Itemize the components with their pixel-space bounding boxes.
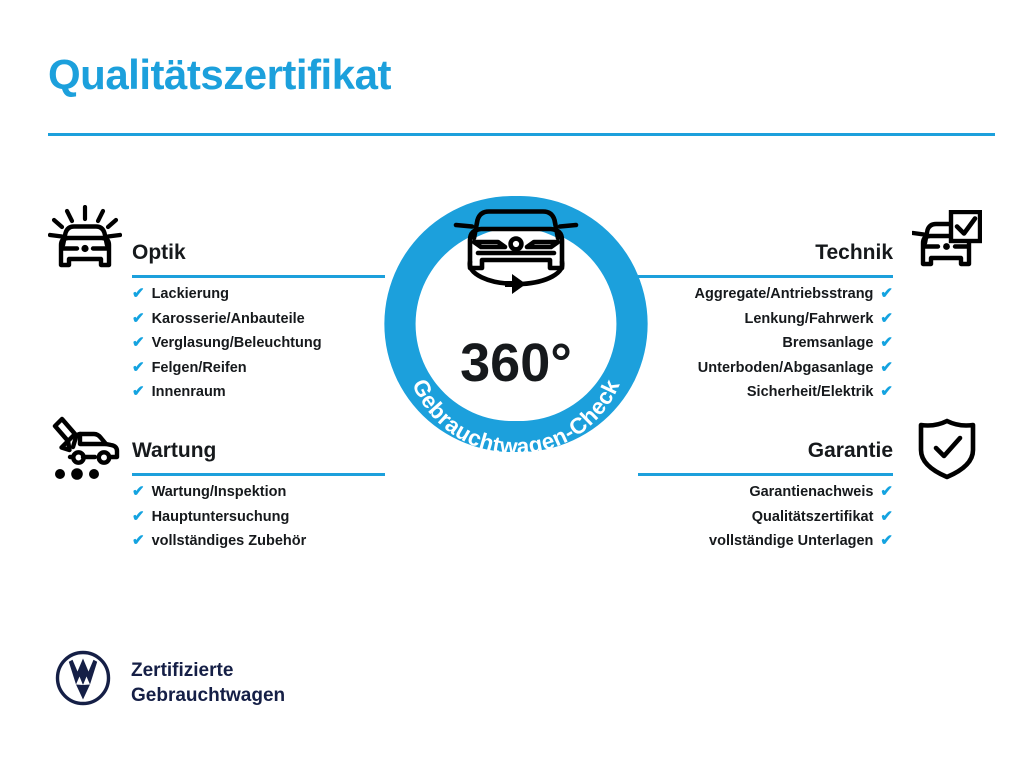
footer-brand-text: Zertifizierte Gebrauchtwagen <box>131 658 285 708</box>
section-wartung: Wartung ✔Wartung/Inspektion ✔Hauptunters… <box>132 436 385 554</box>
car-front-checkbox-icon <box>912 210 982 274</box>
section-technik-header: Technik <box>638 238 893 282</box>
section-optik-list: ✔Lackierung ✔Karosserie/Anbauteile ✔Verg… <box>132 282 385 405</box>
check-icon: ✔ <box>880 307 893 331</box>
list-item-label: Bremsanlage <box>782 332 873 356</box>
section-optik-divider <box>132 275 385 278</box>
section-wartung-title: Wartung <box>132 436 385 466</box>
check-icon: ✔ <box>880 380 893 404</box>
check-icon: ✔ <box>880 480 893 504</box>
list-item-label: Wartung/Inspektion <box>152 481 287 505</box>
footer-brand-line1: Zertifizierte <box>131 658 285 683</box>
list-item-label: Unterboden/Abgasanlage <box>698 357 874 381</box>
section-technik-title: Technik <box>638 238 893 268</box>
list-item-label: Felgen/Reifen <box>152 357 247 381</box>
volkswagen-logo <box>55 650 111 706</box>
check-icon: ✔ <box>132 356 145 380</box>
section-garantie: Garantie Garantienachweis✔ Qualitätszert… <box>638 436 893 554</box>
list-item: Bremsanlage✔ <box>638 331 893 356</box>
pen-and-car-service-icon <box>48 415 122 481</box>
section-garantie-title: Garantie <box>638 436 893 466</box>
check-icon: ✔ <box>880 505 893 529</box>
list-item: Aggregate/Antriebsstrang✔ <box>638 282 893 307</box>
check-icon: ✔ <box>132 331 145 355</box>
list-item: ✔Hauptuntersuchung <box>132 505 385 530</box>
list-item-label: Garantienachweis <box>749 481 873 505</box>
list-item-label: Sicherheit/Elektrik <box>747 381 874 405</box>
certificate-page: Qualitätszertifikat Optik <box>0 0 1024 768</box>
check-icon: ✔ <box>880 529 893 553</box>
list-item: ✔Verglasung/Beleuchtung <box>132 331 385 356</box>
section-optik: Optik ✔Lackierung ✔Karosserie/Anbauteile… <box>132 238 385 405</box>
list-item: ✔Wartung/Inspektion <box>132 480 385 505</box>
list-item: Garantienachweis✔ <box>638 480 893 505</box>
section-optik-title: Optik <box>132 238 385 268</box>
shield-check-icon <box>916 418 978 480</box>
list-item: ✔Felgen/Reifen <box>132 356 385 381</box>
check-icon: ✔ <box>132 380 145 404</box>
section-technik: Technik Aggregate/Antriebsstrang✔ Lenkun… <box>638 238 893 405</box>
list-item: Unterboden/Abgasanlage✔ <box>638 356 893 381</box>
check-icon: ✔ <box>132 505 145 529</box>
check-icon: ✔ <box>132 307 145 331</box>
footer-brand-line2: Gebrauchtwagen <box>131 683 285 708</box>
check-icon: ✔ <box>132 529 145 553</box>
section-technik-list: Aggregate/Antriebsstrang✔ Lenkung/Fahrwe… <box>638 282 893 405</box>
list-item-label: vollständige Unterlagen <box>709 530 873 554</box>
list-item-label: Karosserie/Anbauteile <box>152 308 305 332</box>
list-item-label: Innenraum <box>152 381 226 405</box>
list-item: ✔Karosserie/Anbauteile <box>132 307 385 332</box>
list-item-label: Hauptuntersuchung <box>152 506 290 530</box>
list-item: Sicherheit/Elektrik✔ <box>638 380 893 405</box>
check-icon: ✔ <box>132 282 145 306</box>
check-icon: ✔ <box>880 356 893 380</box>
check-icon: ✔ <box>880 282 893 306</box>
section-wartung-header: Wartung <box>132 436 385 480</box>
section-garantie-list: Garantienachweis✔ Qualitätszertifikat✔ v… <box>638 480 893 554</box>
section-optik-header: Optik <box>132 238 385 282</box>
list-item-label: Lenkung/Fahrwerk <box>745 308 874 332</box>
list-item: ✔vollständiges Zubehör <box>132 529 385 554</box>
list-item: ✔Lackierung <box>132 282 385 307</box>
check-icon: ✔ <box>132 480 145 504</box>
list-item: vollständige Unterlagen✔ <box>638 529 893 554</box>
badge-360-gebrauchtwagen-check: 360° Gebrauchtwagen-Check <box>380 196 652 486</box>
list-item-label: vollständiges Zubehör <box>152 530 307 554</box>
section-wartung-divider <box>132 473 385 476</box>
list-item: ✔Innenraum <box>132 380 385 405</box>
list-item: Qualitätszertifikat✔ <box>638 505 893 530</box>
badge-center-text: 360° <box>460 333 572 393</box>
list-item-label: Lackierung <box>152 283 229 307</box>
list-item: Lenkung/Fahrwerk✔ <box>638 307 893 332</box>
title-divider <box>48 133 995 136</box>
list-item-label: Aggregate/Antriebsstrang <box>695 283 874 307</box>
list-item-label: Qualitätszertifikat <box>752 506 874 530</box>
page-title: Qualitätszertifikat <box>48 53 391 97</box>
section-garantie-header: Garantie <box>638 436 893 480</box>
check-icon: ✔ <box>880 331 893 355</box>
list-item-label: Verglasung/Beleuchtung <box>152 332 322 356</box>
section-garantie-divider <box>638 473 893 476</box>
section-wartung-list: ✔Wartung/Inspektion ✔Hauptuntersuchung ✔… <box>132 480 385 554</box>
shiny-car-front-icon <box>48 205 122 275</box>
section-technik-divider <box>638 275 893 278</box>
